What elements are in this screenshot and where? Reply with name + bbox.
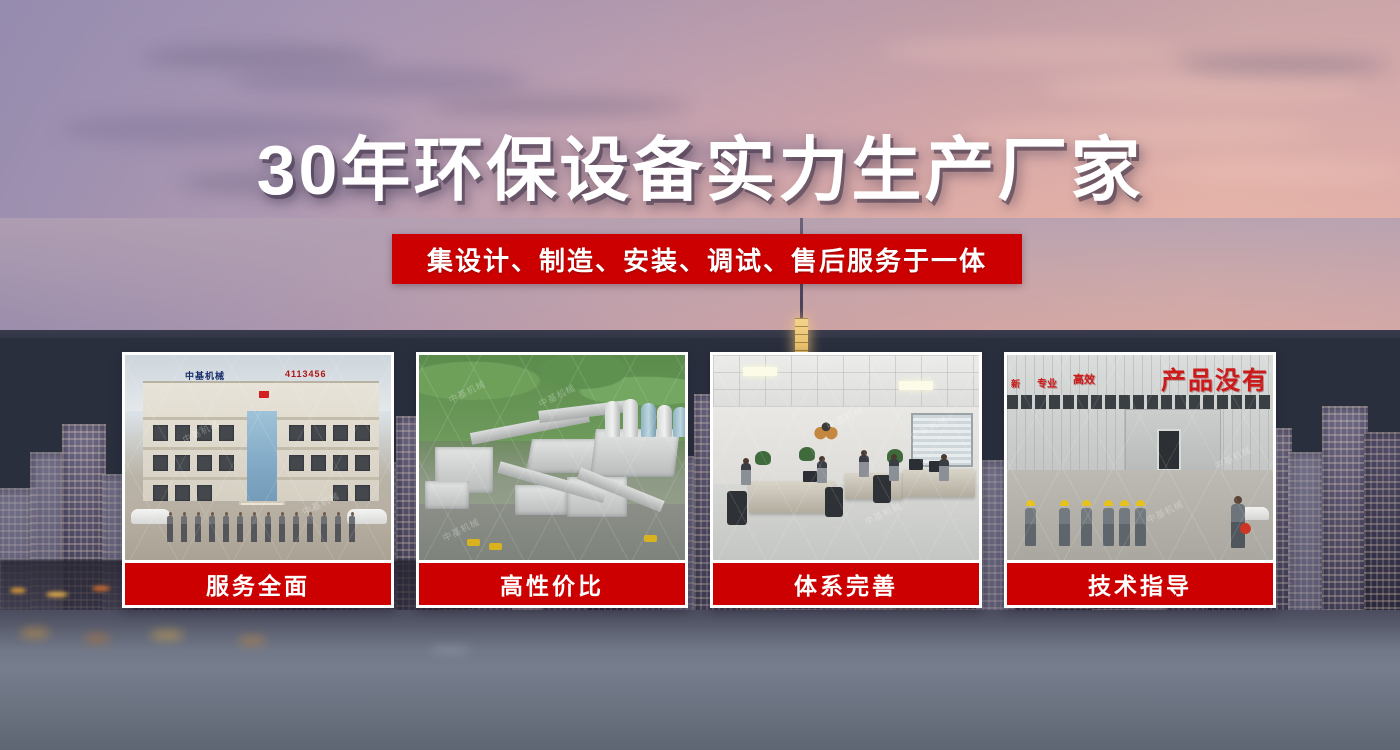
- feature-card-service[interactable]: 中基机械 4113456 中基机械: [122, 352, 394, 608]
- card-caption-text: 体系完善: [794, 567, 898, 601]
- factory-slogan-c: 高效: [1073, 371, 1095, 387]
- photo-plant-aerial: 中基机械 中基机械 中基机械: [419, 355, 685, 560]
- card-caption-text: 服务全面: [206, 567, 310, 601]
- card-caption-bar: 技术指导: [1007, 563, 1273, 605]
- factory-slogan-b: 专业: [1037, 375, 1057, 390]
- river-water: [0, 610, 1400, 750]
- photo-office-interior: 中基机械 中基机械 中基机械: [713, 355, 979, 560]
- feature-card-system[interactable]: 中基机械 中基机械 中基机械 体系完善: [710, 352, 982, 608]
- card-caption-text: 高性价比: [500, 567, 604, 601]
- card-caption-text: 技术指导: [1088, 567, 1192, 601]
- feature-card-row: 中基机械 4113456 中基机械: [122, 352, 1278, 608]
- factory-slogan-a: 新: [1011, 377, 1020, 390]
- card-caption-bar: 体系完善: [713, 563, 979, 605]
- building-sign-text: 中基机械: [185, 369, 225, 382]
- feature-card-value[interactable]: 中基机械 中基机械 中基机械 高性价比: [416, 352, 688, 608]
- factory-slogan-main: 产品没有: [1161, 361, 1269, 397]
- photo-company-building: 中基机械 4113456 中基机械: [125, 355, 391, 560]
- subtitle-banner: 集设计、制造、安装、调试、售后服务于一体: [392, 234, 1022, 284]
- card-caption-bar: 高性价比: [419, 563, 685, 605]
- building-phone-text: 4113456: [285, 369, 327, 379]
- hero-banner: 30年环保设备实力生产厂家 集设计、制造、安装、调试、售后服务于一体: [0, 0, 1400, 750]
- page-title: 30年环保设备实力生产厂家: [0, 133, 1400, 207]
- photo-worker-training: 产品没有 新 专业 高效 中基机械 中基机械: [1007, 355, 1273, 560]
- card-caption-bar: 服务全面: [125, 563, 391, 605]
- subtitle-text: 集设计、制造、安装、调试、售后服务于一体: [427, 241, 987, 278]
- feature-card-guidance[interactable]: 产品没有 新 专业 高效 中基机械 中基机械: [1004, 352, 1276, 608]
